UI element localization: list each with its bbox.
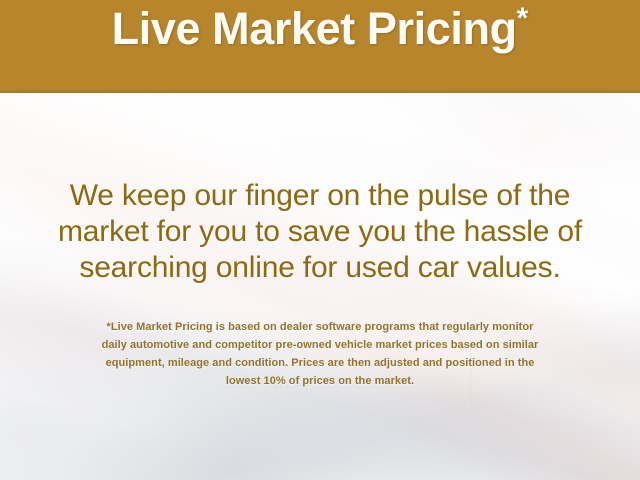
footnote-marker: * (517, 2, 529, 35)
headline-block: We keep our finger on the pulse of the m… (28, 178, 612, 286)
marketing-slide: Live Market Pricing* We keep our finger … (0, 0, 640, 480)
fineprint-line: daily automotive and competitor pre-owne… (30, 336, 610, 354)
headline-line: We keep our finger on the pulse of the (28, 178, 612, 214)
fineprint-block: *Live Market Pricing is based on dealer … (30, 318, 610, 390)
fineprint-line: equipment, mileage and condition. Prices… (30, 354, 610, 372)
header-banner: Live Market Pricing* (0, 0, 640, 93)
fineprint-line: *Live Market Pricing is based on dealer … (30, 318, 610, 336)
headline-line: market for you to save you the hassle of (28, 214, 612, 250)
page-title: Live Market Pricing* (112, 4, 529, 51)
page-title-text: Live Market Pricing (112, 3, 517, 54)
headline-line: searching online for used car values. (28, 250, 612, 286)
fineprint-line: lowest 10% of prices on the market. (30, 372, 610, 390)
